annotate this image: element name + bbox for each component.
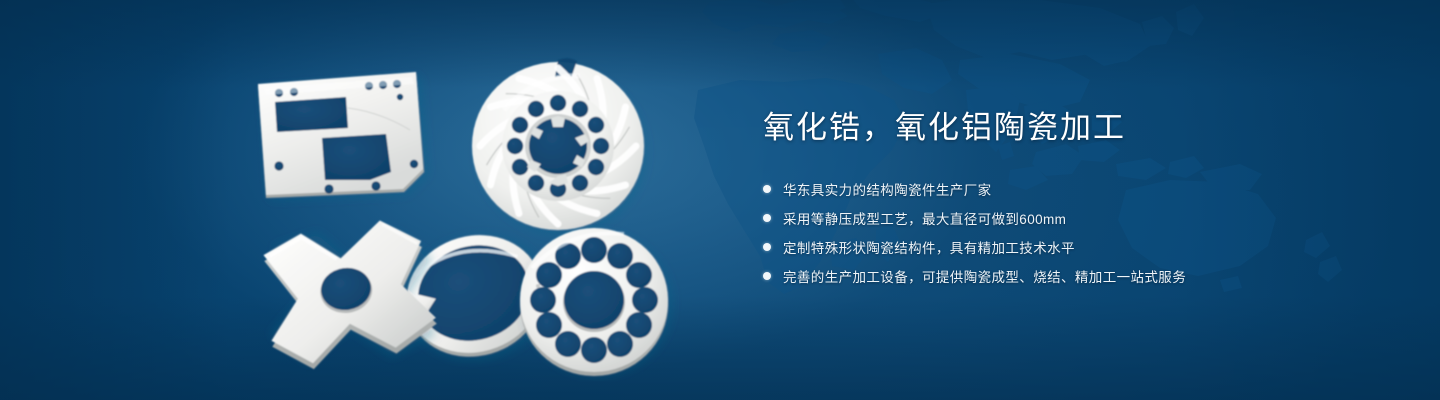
banner-headline: 氧化锆，氧化铝陶瓷加工 [763,108,1383,148]
product-ceramic-impeller-disc [472,58,646,234]
ceramic-products-image [228,34,728,384]
bullet-dot-icon [763,243,771,251]
feature-item: 采用等静压成型工艺，最大直径可做到600mm [763,207,1383,229]
feature-text: 完善的生产加工设备，可提供陶瓷成型、烧结、精加工一站式服务 [783,266,1186,286]
banner-copy: 氧化锆，氧化铝陶瓷加工 华东具实力的结构陶瓷件生产厂家 采用等静压成型工艺，最大… [763,108,1383,294]
feature-text: 采用等静压成型工艺，最大直径可做到600mm [783,208,1066,228]
hero-banner: 氧化锆，氧化铝陶瓷加工 华东具实力的结构陶瓷件生产厂家 采用等静压成型工艺，最大… [0,0,1440,400]
banner-feature-list: 华东具实力的结构陶瓷件生产厂家 采用等静压成型工艺，最大直径可做到600mm 定… [763,178,1383,287]
bullet-dot-icon [763,185,771,193]
product-machined-ceramic-plate [258,72,428,200]
bullet-dot-icon [763,214,771,222]
feature-text: 定制特殊形状陶瓷结构件，具有精加工技术水平 [783,237,1075,257]
product-perforated-ceramic-disc [520,228,672,376]
feature-item: 完善的生产加工设备，可提供陶瓷成型、烧结、精加工一站式服务 [763,265,1383,287]
bullet-dot-icon [763,272,771,280]
feature-item: 华东具实力的结构陶瓷件生产厂家 [763,178,1383,200]
feature-text: 华东具实力的结构陶瓷件生产厂家 [783,179,992,199]
feature-item: 定制特殊形状陶瓷结构件，具有精加工技术水平 [763,236,1383,258]
